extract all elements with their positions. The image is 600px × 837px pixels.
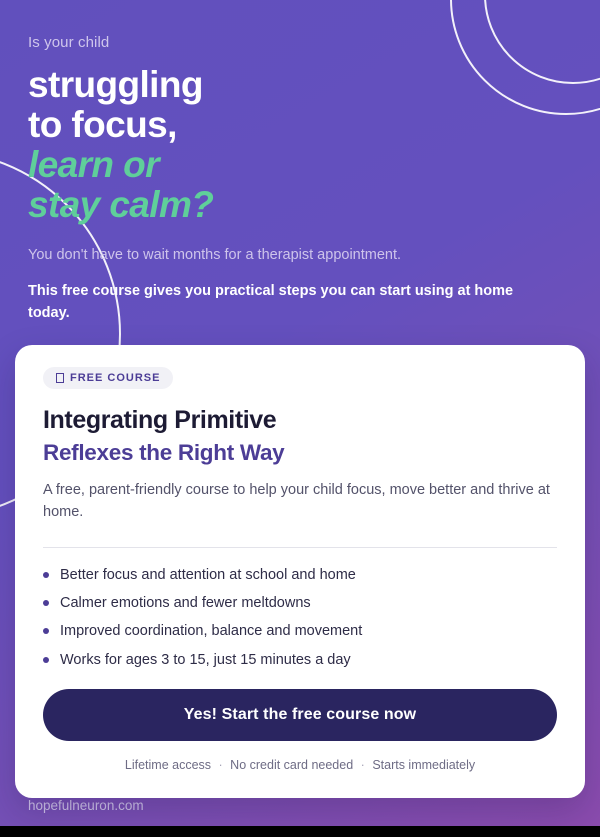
bullet-dot-icon — [43, 628, 49, 634]
microcopy-item-1: Lifetime access — [125, 758, 211, 772]
bottom-bar — [0, 826, 600, 837]
status-badge: FREE COURSE — [43, 367, 173, 389]
list-item: Calmer emotions and fewer meltdowns — [43, 592, 557, 614]
microcopy-separator: · — [357, 758, 369, 772]
list-item: Better focus and attention at school and… — [43, 564, 557, 586]
list-item-label: Calmer emotions and fewer meltdowns — [60, 595, 311, 611]
headline-line-2: to focus, — [28, 104, 177, 145]
card-description: A free, parent-friendly course to help y… — [43, 480, 555, 524]
list-item: Improved coordination, balance and movem… — [43, 620, 557, 642]
microcopy-separator: · — [215, 758, 227, 772]
missing-glyph-box-icon — [56, 373, 64, 383]
hero-sub-paragraph: You don't have to wait months for a ther… — [28, 245, 572, 266]
list-item-label: Improved coordination, balance and movem… — [60, 623, 362, 639]
hero-section: Is your child struggling to focus, learn… — [0, 0, 600, 324]
list-item-label: Works for ages 3 to 15, just 15 minutes … — [60, 652, 351, 668]
cta-microcopy: Lifetime access · No credit card needed … — [43, 758, 557, 772]
headline-accent-line-2: stay calm? — [28, 184, 213, 225]
list-item-label: Better focus and attention at school and… — [60, 567, 356, 583]
hero-lead-paragraph: This free course gives you practical ste… — [28, 281, 548, 324]
bullet-dot-icon — [43, 572, 49, 578]
benefit-list: Better focus and attention at school and… — [43, 564, 557, 672]
microcopy-item-2: No credit card needed — [230, 758, 353, 772]
badge-label: FREE COURSE — [70, 372, 160, 384]
hero-headline: struggling to focus, learn or stay calm? — [28, 65, 572, 225]
divider — [43, 547, 557, 548]
promo-landing-page: Is your child struggling to focus, learn… — [0, 0, 600, 826]
hero-eyebrow: Is your child — [28, 34, 572, 51]
page-title: Integrating Primitive — [43, 406, 557, 435]
start-free-course-button[interactable]: Yes! Start the free course now — [43, 689, 557, 741]
bullet-dot-icon — [43, 600, 49, 606]
offer-card: FREE COURSE Integrating Primitive Reflex… — [15, 345, 585, 798]
page-subtitle: Reflexes the Right Way — [43, 440, 557, 466]
headline-accent-line-1: learn or — [28, 144, 159, 185]
microcopy-item-3: Starts immediately — [372, 758, 475, 772]
brand-url[interactable]: hopefulneuron.com — [28, 798, 144, 813]
list-item: Works for ages 3 to 15, just 15 minutes … — [43, 649, 557, 671]
headline-line-1: struggling — [28, 64, 203, 105]
bullet-dot-icon — [43, 657, 49, 663]
